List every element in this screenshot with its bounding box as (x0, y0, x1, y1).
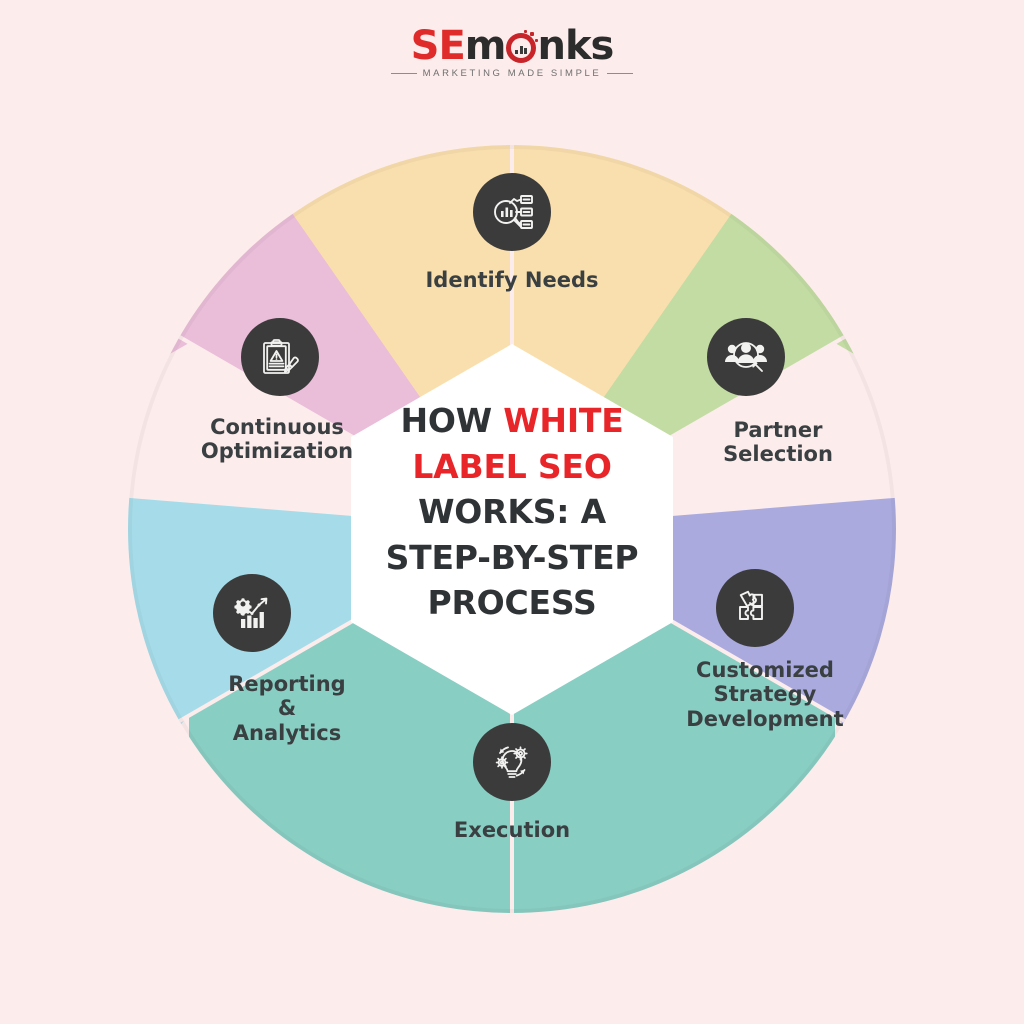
lightbulb-gears-icon (473, 723, 551, 801)
infographic-canvas: SEmnks MARKETING MADE SIMPLE (0, 0, 1024, 1024)
segment-label-continuous-optimization: Continuous Optimization (112, 415, 442, 464)
title-line-3: WORKS: A (356, 489, 668, 535)
brand-logo: SEmnks MARKETING MADE SIMPLE (0, 26, 1024, 79)
tagline-rule-left (391, 73, 417, 74)
segment-label-customized-strategy-development: Customized Strategy Development (630, 658, 900, 731)
logo-text-se: SE (411, 23, 465, 69)
clipboard-warning-pencil-icon (241, 318, 319, 396)
title-line-5: PROCESS (356, 580, 668, 626)
title-line-4: STEP-BY-STEP (356, 535, 668, 581)
segment-label-execution: Execution (392, 818, 632, 842)
logo-tagline-row: MARKETING MADE SIMPLE (0, 69, 1024, 79)
puzzle-pieces-icon (716, 569, 794, 647)
magnifier-bar-chart-list-icon (473, 173, 551, 251)
logo-text-nks: nks (537, 23, 613, 69)
people-magnifier-icon (707, 318, 785, 396)
logo-wordmark: SEmnks (411, 26, 614, 66)
segment-label-identify-needs: Identify Needs (362, 268, 662, 292)
segment-label-reporting-analytics: Reporting & Analytics (132, 672, 442, 745)
segment-label-partner-selection: Partner Selection (648, 418, 908, 467)
logo-tagline: MARKETING MADE SIMPLE (423, 69, 602, 79)
chart-circle-icon (506, 33, 536, 63)
logo-bars (515, 45, 527, 54)
logo-pixel (530, 32, 534, 36)
logo-text-m: m (465, 23, 506, 69)
tagline-rule-right (607, 73, 633, 74)
gear-bar-chart-trend-icon (213, 574, 291, 652)
logo-pixel (524, 30, 527, 33)
